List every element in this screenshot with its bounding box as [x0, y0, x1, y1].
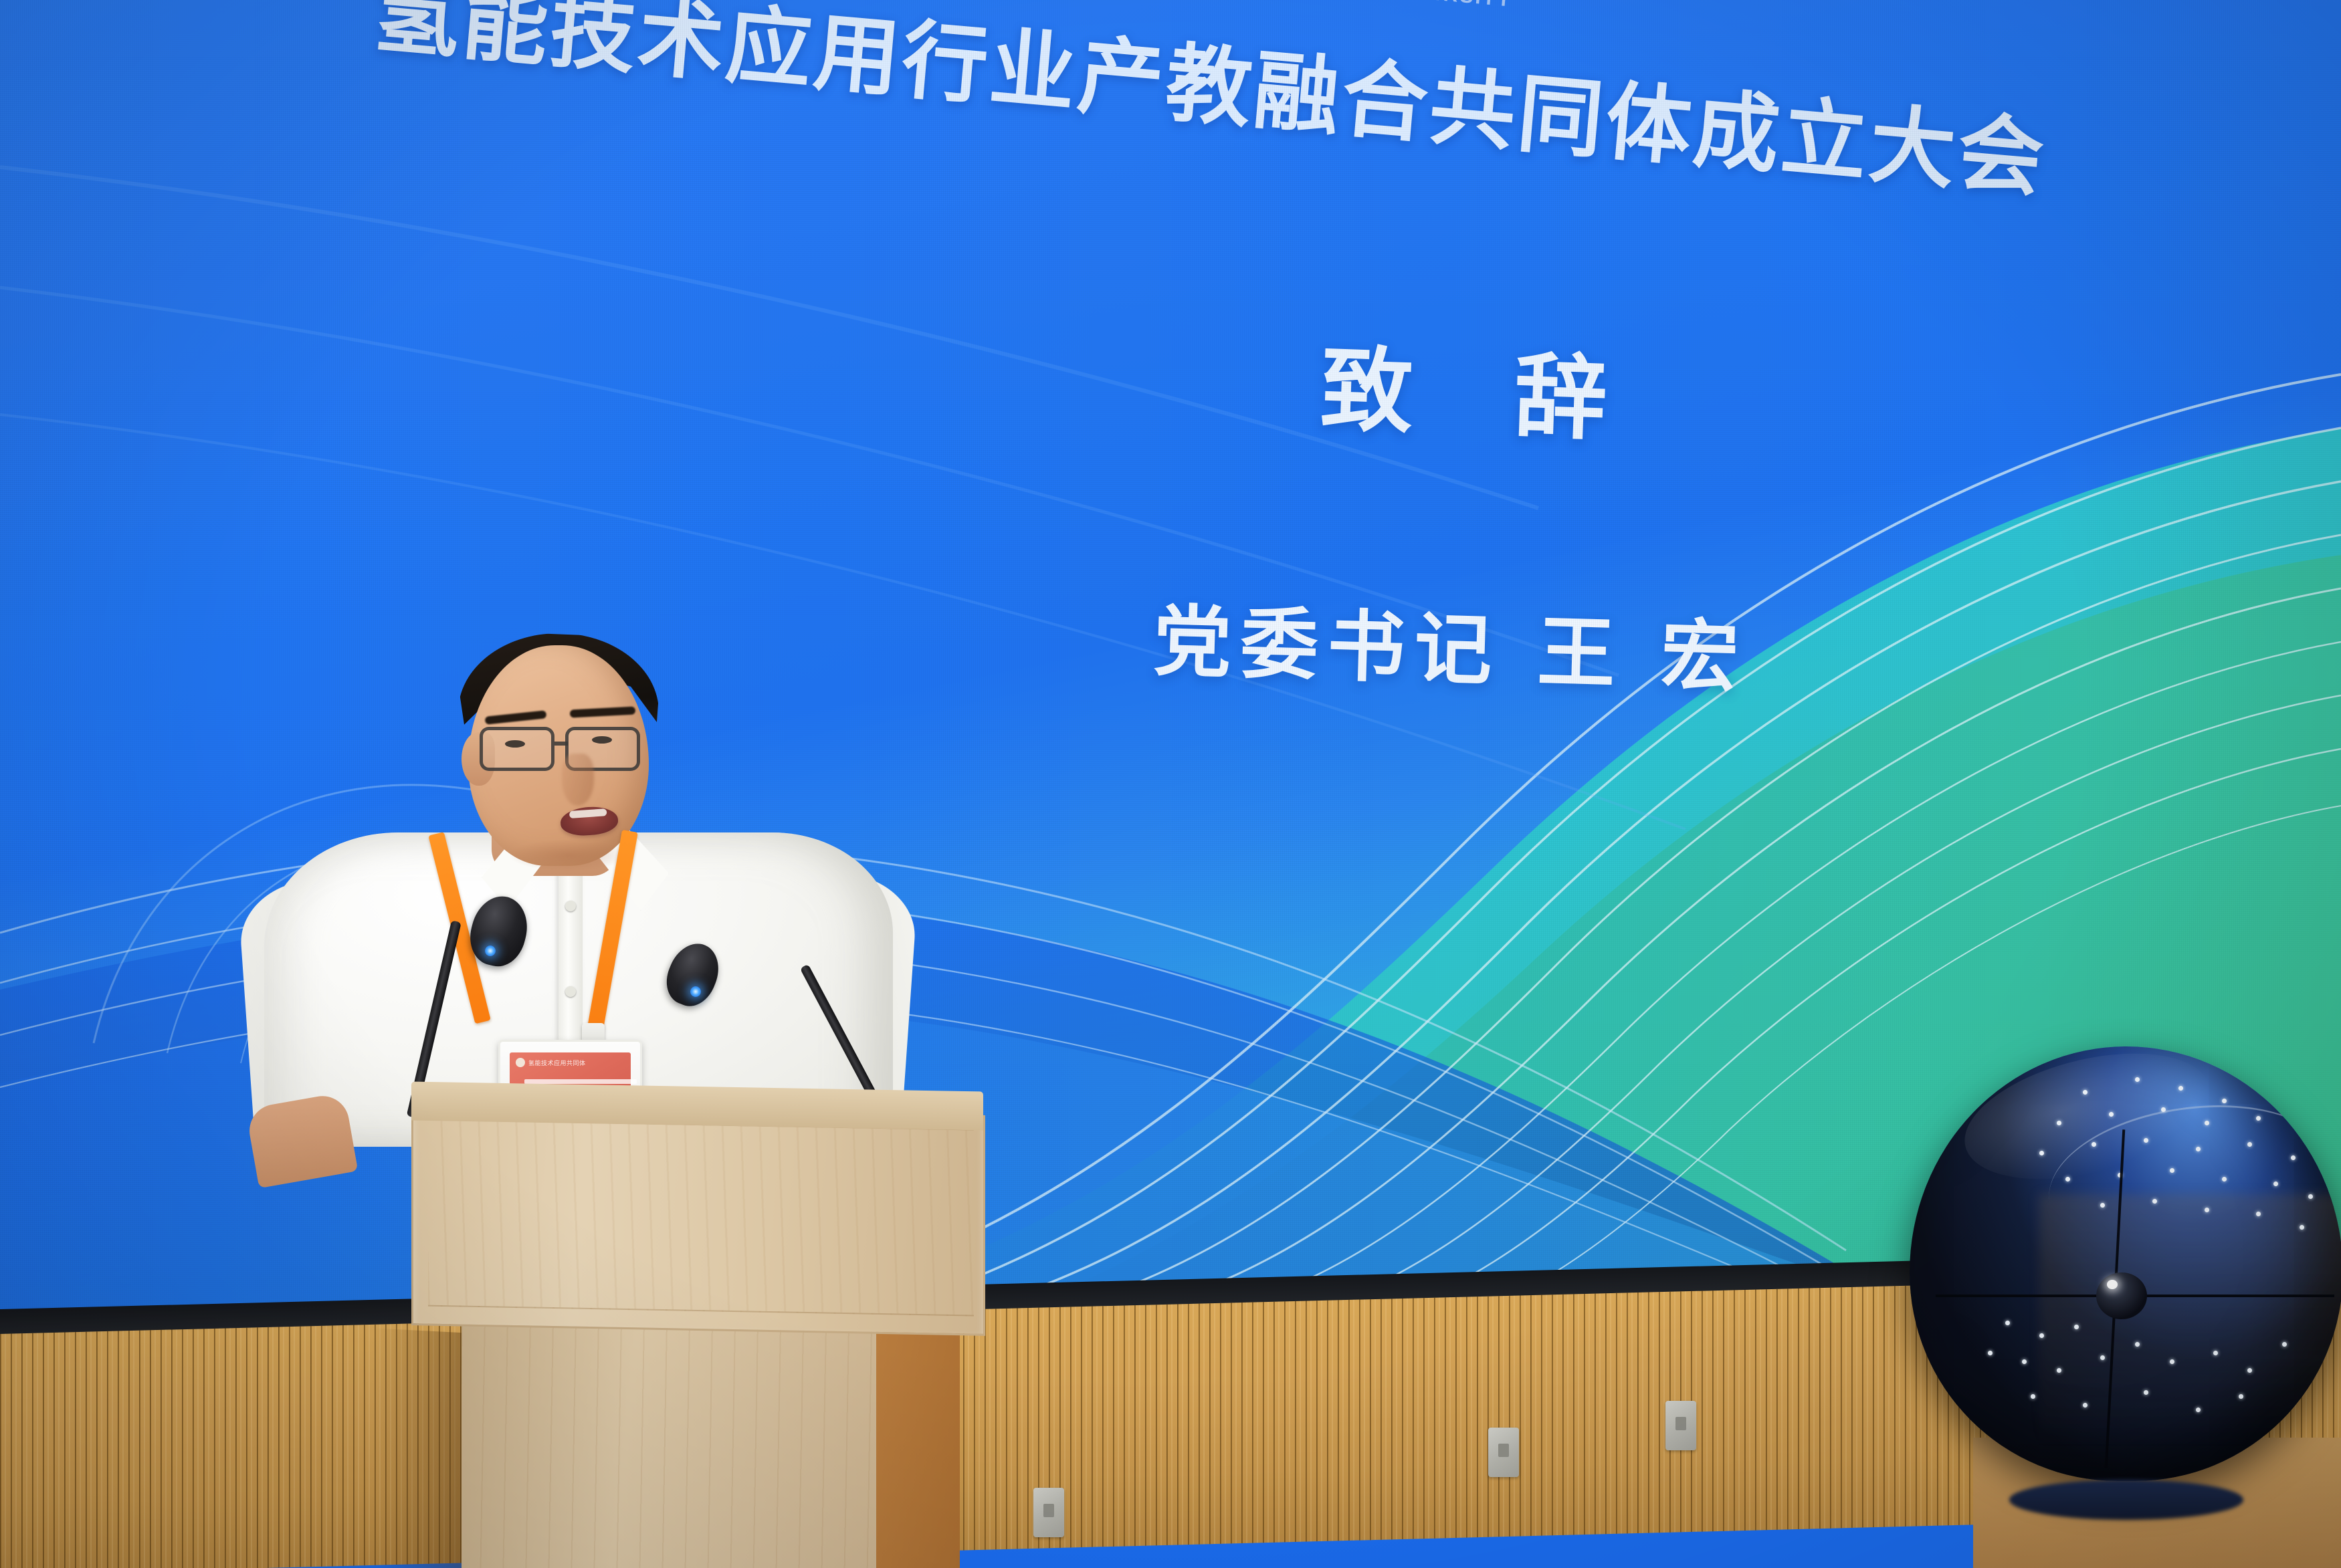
wall-outlet — [1488, 1428, 1519, 1477]
sphere-base — [2009, 1480, 2243, 1520]
microphone-led-left — [485, 945, 496, 956]
badge-logo-icon — [516, 1058, 525, 1067]
spherical-exhibit — [1910, 1046, 2341, 1515]
lens-left — [480, 727, 554, 771]
teeth — [569, 808, 607, 818]
chin-shadow — [508, 839, 629, 871]
podium-base — [462, 1318, 876, 1568]
wall-outlet — [1665, 1401, 1696, 1450]
microphone-led-right — [690, 986, 701, 997]
speaker-person: 氢能技术应用共同体 — [227, 639, 930, 1147]
podium-side-shadow — [375, 1328, 468, 1568]
podium-front-panel — [411, 1105, 985, 1336]
nose — [562, 754, 594, 806]
badge-logo-text: 氢能技术应用共同体 — [528, 1058, 586, 1067]
shirt-button — [565, 986, 576, 997]
sphere-body — [1910, 1046, 2341, 1481]
glasses-bridge — [554, 742, 568, 746]
photo-stage: …RSITY 氢能技术应用行业产教融合共同体成立大会 致 辞 党委书记 王 宏 — [0, 0, 2341, 1568]
sphere-center-node — [2096, 1272, 2147, 1319]
shirt-button — [565, 901, 576, 911]
wall-outlet — [1033, 1488, 1064, 1537]
